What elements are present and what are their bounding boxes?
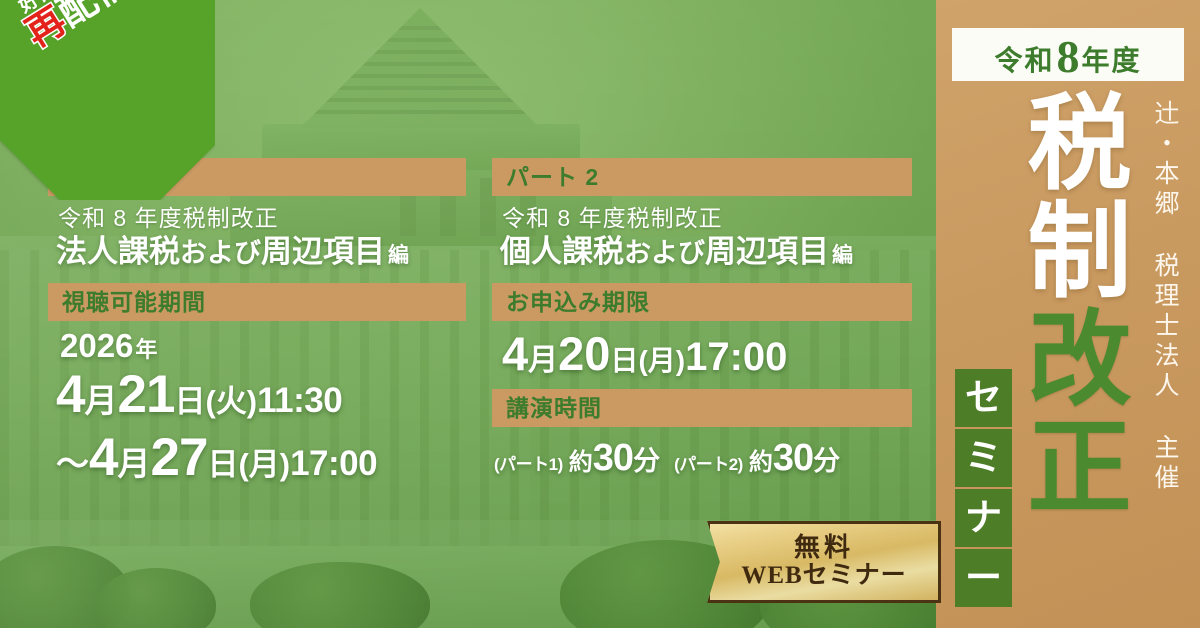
seminar-label-stack: セ ミ ナ ー: [955, 369, 1012, 607]
vertical-title-zeisei: 税制: [1011, 88, 1126, 304]
start-month: 4: [56, 365, 84, 424]
era-box: 令和8年度: [952, 28, 1184, 81]
part2-subtitle: 令和 8 年度税制改正: [502, 206, 912, 231]
era-text: 令和8年度: [994, 32, 1141, 78]
viewing-year-unit: 年: [135, 337, 157, 362]
seminar-banner: 好評につき 再配信 パート 1 令和 8 年度税制改正 法人課税および周辺項目編…: [0, 0, 1200, 628]
part2-headline-main: 個人課税: [500, 234, 624, 269]
corner-ribbon: 好評につき 再配信: [0, 0, 215, 200]
badge-line-free: 無料: [794, 535, 854, 561]
duration-part2: (パート2)約30分: [674, 437, 840, 480]
badge-text: 無料 WEBセミナー: [707, 521, 941, 603]
era-prefix: 令和: [994, 46, 1054, 77]
duration-part1-unit: 分: [633, 439, 660, 478]
start-weekday: (火): [205, 384, 257, 419]
deadline-day-unit: 日: [610, 345, 638, 376]
deadline-month: 4: [502, 327, 528, 380]
start-month-unit: 月: [84, 382, 117, 419]
deadline-date: 4月20日(月)17:00: [502, 330, 912, 377]
duration-part2-label: (パート2): [674, 450, 743, 475]
deadline-time: 17:00: [685, 335, 787, 379]
duration-part2-unit: 分: [813, 439, 840, 478]
duration-part1-approx: 約: [569, 442, 593, 477]
duration-tag-bar: 講演時間: [492, 389, 912, 427]
viewing-year-number: 2026: [60, 327, 133, 364]
part2-headline-rest: 周辺項目: [705, 234, 829, 269]
part1-headline-kana: および: [180, 238, 261, 268]
deadline-month-unit: 月: [528, 344, 558, 377]
duration-part1-minutes: 30: [593, 437, 633, 480]
part2-headline-kana: および: [624, 238, 705, 268]
right-panel: 令和8年度 税制改正 辻・本郷 税理士法人 主催 セ ミ ナ ー: [936, 0, 1200, 628]
free-webinar-badge: 無料 WEBセミナー: [707, 521, 941, 603]
column-part2: パート 2 令和 8 年度税制改正 個人課税および周辺項目編 お申込み期限 4月…: [492, 158, 912, 480]
viewing-end-date: ～4月27日(月)17:00: [56, 431, 466, 484]
start-day: 21: [117, 365, 174, 424]
deadline-day: 20: [558, 327, 610, 380]
badge-line-webinar: WEBセミナー: [741, 562, 906, 590]
viewing-start-date: 4月21日(火)11:30: [56, 368, 466, 421]
part1-headline: 法人課税および周辺項目編: [56, 235, 466, 269]
part2-tag-bar: パート 2: [492, 158, 912, 196]
end-day-unit: 日: [207, 447, 238, 482]
deadline-weekday: (月): [638, 345, 685, 376]
start-day-unit: 日: [174, 384, 205, 419]
seminar-char-3: ナ: [955, 489, 1012, 547]
end-weekday: (月): [238, 447, 290, 482]
vertical-title-kaisei: 改正: [1011, 304, 1126, 520]
part2-headline-suffix: 編: [832, 244, 853, 267]
duration-part2-approx: 約: [749, 442, 773, 477]
viewing-period-tag-bar: 視聴可能期間: [48, 283, 466, 321]
start-time: 11:30: [257, 381, 342, 420]
duration-part2-minutes: 30: [773, 437, 813, 480]
viewing-year: 2026年: [60, 329, 466, 362]
part1-headline-main: 法人課税: [56, 234, 180, 269]
part2-headline: 個人課税および周辺項目編: [500, 235, 912, 269]
end-time: 17:00: [290, 444, 377, 483]
duration-values: (パート1)約30分 (パート2)約30分: [494, 437, 912, 480]
column-part1: パート 1 令和 8 年度税制改正 法人課税および周辺項目編 視聴可能期間 20…: [48, 158, 466, 484]
part1-subtitle: 令和 8 年度税制改正: [58, 206, 466, 231]
host-organization: 辻・本郷 税理士法人 主催: [1149, 100, 1180, 494]
end-month-unit: 月: [117, 445, 150, 482]
duration-part1-label: (パート1): [494, 450, 563, 475]
deadline-tag-bar: お申込み期限: [492, 283, 912, 321]
deadline-label: お申込み期限: [506, 291, 650, 314]
era-number: 8: [1057, 31, 1080, 82]
end-month: 4: [89, 428, 117, 487]
viewing-period-label: 視聴可能期間: [62, 291, 206, 314]
end-day: 27: [150, 428, 207, 487]
end-tilde: ～: [56, 445, 89, 482]
part1-headline-rest: 周辺項目: [261, 234, 385, 269]
duration-label: 講演時間: [506, 397, 602, 420]
part1-headline-suffix: 編: [388, 244, 409, 267]
era-suffix: 年度: [1082, 46, 1142, 77]
seminar-char-1: セ: [955, 369, 1012, 427]
duration-part1: (パート1)約30分: [494, 437, 660, 480]
part2-tag-label: パート 2: [506, 166, 599, 189]
seminar-char-2: ミ: [955, 429, 1012, 487]
seminar-char-4: ー: [955, 549, 1012, 607]
